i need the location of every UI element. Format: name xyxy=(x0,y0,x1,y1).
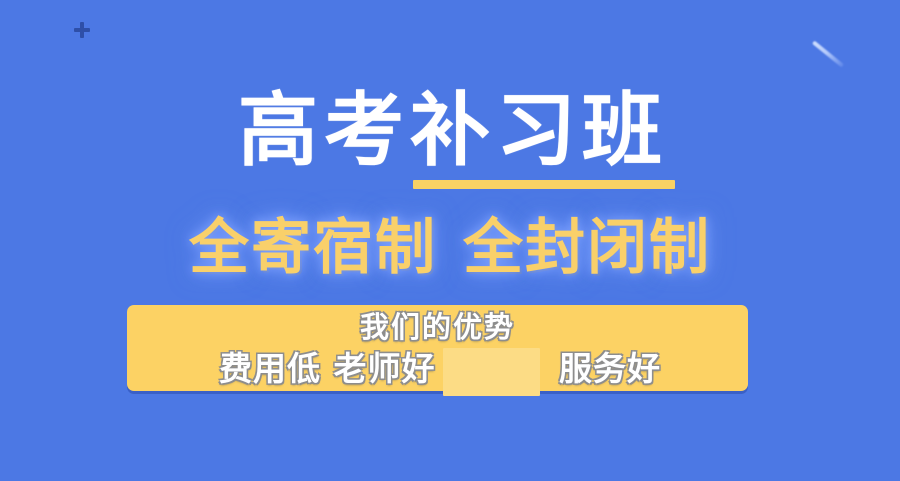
subtitle-part-1: 全寄宿制 xyxy=(189,213,437,283)
advantages-panel: 我们的优势 费用低 老师好 服务好 xyxy=(127,305,748,391)
advantages-heading: 我们的优势 xyxy=(127,309,748,345)
page-title: 高考补习班 xyxy=(0,86,900,176)
advantage-item-1: 费用低 老师好 xyxy=(219,347,436,391)
advantages-list: 费用低 老师好 服务好 xyxy=(127,347,748,391)
plus-mark-icon xyxy=(74,22,90,38)
advantage-item-2: 服务好 xyxy=(559,347,661,391)
poster-canvas: 高考补习班 全寄宿制全封闭制 我们的优势 费用低 老师好 服务好 xyxy=(0,0,900,481)
redaction-patch xyxy=(443,348,540,396)
subtitle: 全寄宿制全封闭制 xyxy=(0,210,900,286)
title-underline-bar xyxy=(413,180,675,189)
diagonal-streak-icon xyxy=(811,42,845,66)
streak-line xyxy=(812,40,844,67)
subtitle-part-2: 全封闭制 xyxy=(463,213,711,283)
